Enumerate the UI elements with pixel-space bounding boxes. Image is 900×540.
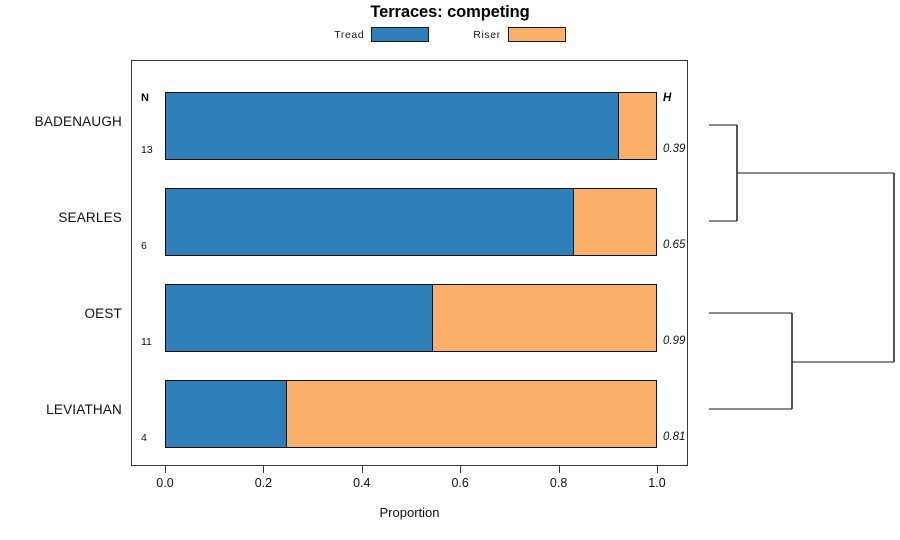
x-axis-title: Proportion bbox=[131, 505, 688, 520]
x-tick-label: 0.4 bbox=[340, 476, 384, 490]
x-tick-label: 0.6 bbox=[438, 476, 482, 490]
x-tick-mark bbox=[559, 466, 560, 473]
bar-segment-tread[interactable] bbox=[165, 92, 619, 160]
legend-item-riser: Riser bbox=[473, 27, 566, 42]
chart-canvas: Terraces: competing Tread Riser N H BADE… bbox=[0, 0, 900, 540]
h-value-searles: 0.65 bbox=[663, 239, 713, 251]
bar-row-oest bbox=[165, 284, 657, 352]
bar-row-badenaugh bbox=[165, 92, 657, 160]
column-header-h: H bbox=[663, 92, 671, 104]
bar-segment-tread[interactable] bbox=[165, 380, 288, 448]
legend-swatch-tread bbox=[371, 27, 429, 42]
bar-segment-tread[interactable] bbox=[165, 284, 433, 352]
legend-label-tread: Tread bbox=[334, 29, 364, 41]
bar-row-leviathan bbox=[165, 380, 657, 448]
x-tick-label: 1.0 bbox=[635, 476, 679, 490]
bar-segment-tread[interactable] bbox=[165, 188, 575, 256]
x-tick-label: 0.8 bbox=[537, 476, 581, 490]
bar-segment-riser[interactable] bbox=[618, 92, 657, 160]
bar-segment-riser[interactable] bbox=[573, 188, 657, 256]
category-label-badenaugh: BADENAUGH bbox=[0, 114, 122, 129]
h-value-oest: 0.99 bbox=[663, 335, 713, 347]
x-tick-mark bbox=[362, 466, 363, 473]
h-value-badenaugh: 0.39 bbox=[663, 143, 713, 155]
x-tick-label: 0.0 bbox=[143, 476, 187, 490]
chart-legend: Tread Riser bbox=[0, 27, 900, 42]
category-label-searles: SEARLES bbox=[0, 210, 122, 225]
bar-row-searles bbox=[165, 188, 657, 256]
column-header-n: N bbox=[141, 92, 149, 104]
bar-segment-riser[interactable] bbox=[432, 284, 657, 352]
legend-swatch-riser bbox=[508, 27, 566, 42]
chart-title: Terraces: competing bbox=[0, 3, 900, 22]
category-label-leviathan: LEVIATHAN bbox=[0, 402, 122, 417]
legend-item-tread: Tread bbox=[334, 27, 429, 42]
x-tick-mark bbox=[657, 466, 658, 473]
h-value-leviathan: 0.81 bbox=[663, 431, 713, 443]
x-tick-mark bbox=[460, 466, 461, 473]
category-label-oest: OEST bbox=[0, 306, 122, 321]
x-tick-label: 0.2 bbox=[241, 476, 285, 490]
x-axis: 0.00.20.40.60.81.0 bbox=[131, 466, 688, 530]
x-tick-mark bbox=[263, 466, 264, 473]
legend-label-riser: Riser bbox=[473, 29, 501, 41]
bar-segment-riser[interactable] bbox=[286, 380, 657, 448]
x-tick-mark bbox=[165, 466, 166, 473]
